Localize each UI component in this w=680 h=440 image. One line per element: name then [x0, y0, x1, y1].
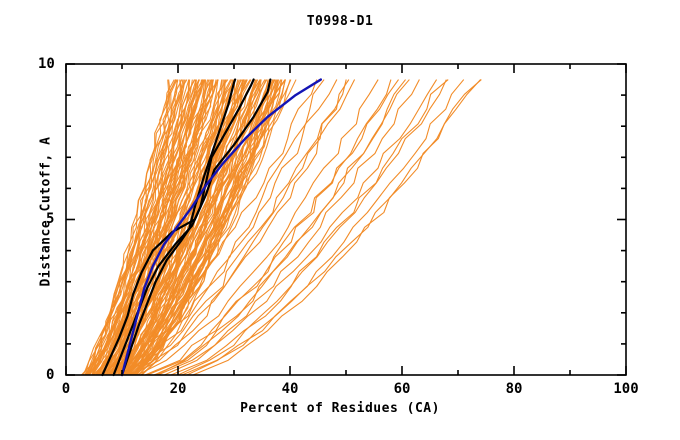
y-tick-label-0: 0 [46, 367, 54, 383]
x-tick-label-20: 20 [170, 381, 187, 397]
chart-figure: T0998-D1 Percent of Residues (CA) Distan… [0, 0, 680, 440]
y-tick-label-5: 5 [46, 211, 54, 227]
x-tick-label-0: 0 [62, 381, 70, 397]
x-axis-label: Percent of Residues (CA) [0, 401, 680, 416]
x-tick-label-80: 80 [506, 381, 523, 397]
x-tick-label-40: 40 [282, 381, 299, 397]
x-tick-label-100: 100 [613, 381, 638, 397]
plot-canvas [0, 0, 680, 440]
x-tick-label-60: 60 [394, 381, 411, 397]
chart-title: T0998-D1 [0, 14, 680, 29]
y-tick-label-10: 10 [38, 56, 55, 72]
